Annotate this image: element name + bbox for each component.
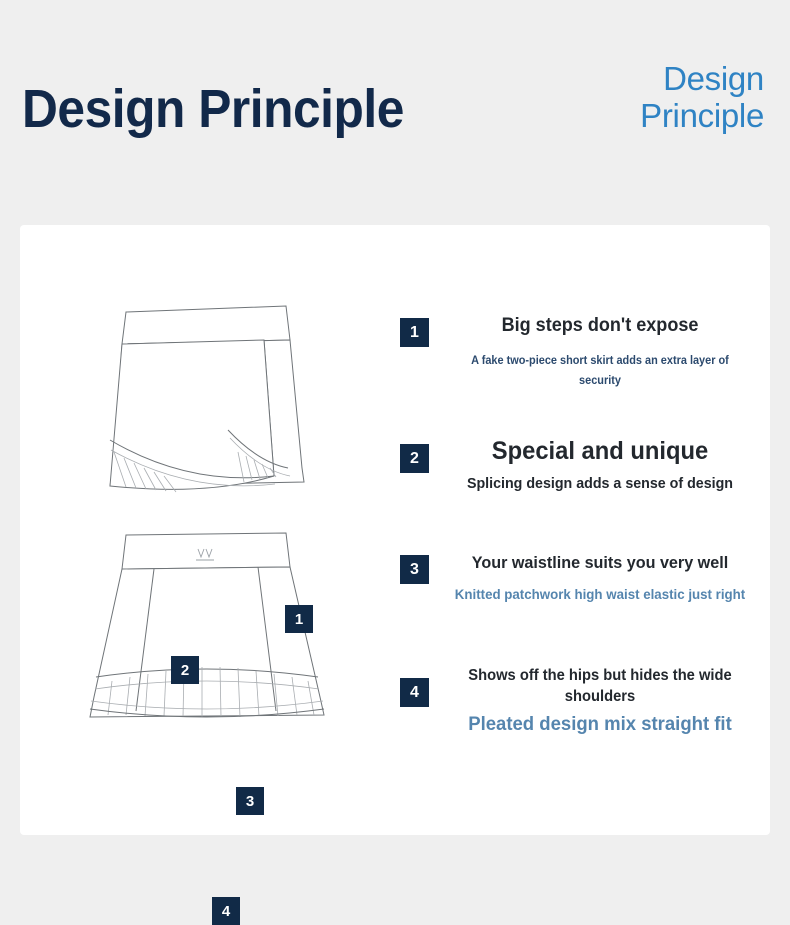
feature-subtitle-1: A fake two-piece short skirt adds an ext… bbox=[453, 351, 748, 391]
feature-text-3: Your waistline suits you very well Knitt… bbox=[445, 550, 755, 605]
illustration-badge-1: 1 bbox=[285, 605, 313, 633]
illustration-badge-4: 4 bbox=[212, 897, 240, 925]
feature-number-3: 3 bbox=[400, 555, 429, 584]
illustration-badge-3: 3 bbox=[236, 787, 264, 815]
brand-title: Design Principle bbox=[640, 60, 764, 134]
feature-subtitle-2: Splicing design adds a sense of design bbox=[453, 473, 748, 495]
brand-title-line-2: Principle bbox=[640, 97, 764, 134]
page-header: Design Principle Design Principle bbox=[0, 0, 790, 225]
brand-title-line-1: Design bbox=[640, 60, 764, 97]
feature-title-4: Shows off the hips but hides the wide sh… bbox=[453, 665, 748, 707]
feature-number-2: 2 bbox=[400, 444, 429, 473]
illustration-badge-2: 2 bbox=[171, 656, 199, 684]
feature-text-2: Special and unique Splicing design adds … bbox=[445, 435, 755, 495]
feature-title-3: Your waistline suits you very well bbox=[453, 550, 748, 575]
feature-rows: 1 Big steps don't expose A fake two-piec… bbox=[360, 225, 770, 835]
content-card: 1 2 3 4 1 Big steps don't expose A fake … bbox=[20, 225, 770, 835]
feature-title-1: Big steps don't expose bbox=[453, 313, 748, 339]
feature-subtitle-4: Pleated design mix straight fit bbox=[453, 711, 748, 737]
feature-text-1: Big steps don't expose A fake two-piece … bbox=[445, 313, 755, 391]
illustration-column: 1 2 3 4 bbox=[20, 225, 360, 835]
wrap-skirt-illustration bbox=[88, 300, 328, 515]
feature-number-1: 1 bbox=[400, 318, 429, 347]
feature-subtitle-3: Knitted patchwork high waist elastic jus… bbox=[453, 583, 748, 605]
feature-title-2: Special and unique bbox=[453, 435, 748, 467]
page-title: Design Principle bbox=[22, 78, 404, 140]
feature-text-4: Shows off the hips but hides the wide sh… bbox=[445, 665, 755, 737]
feature-number-4: 4 bbox=[400, 678, 429, 707]
